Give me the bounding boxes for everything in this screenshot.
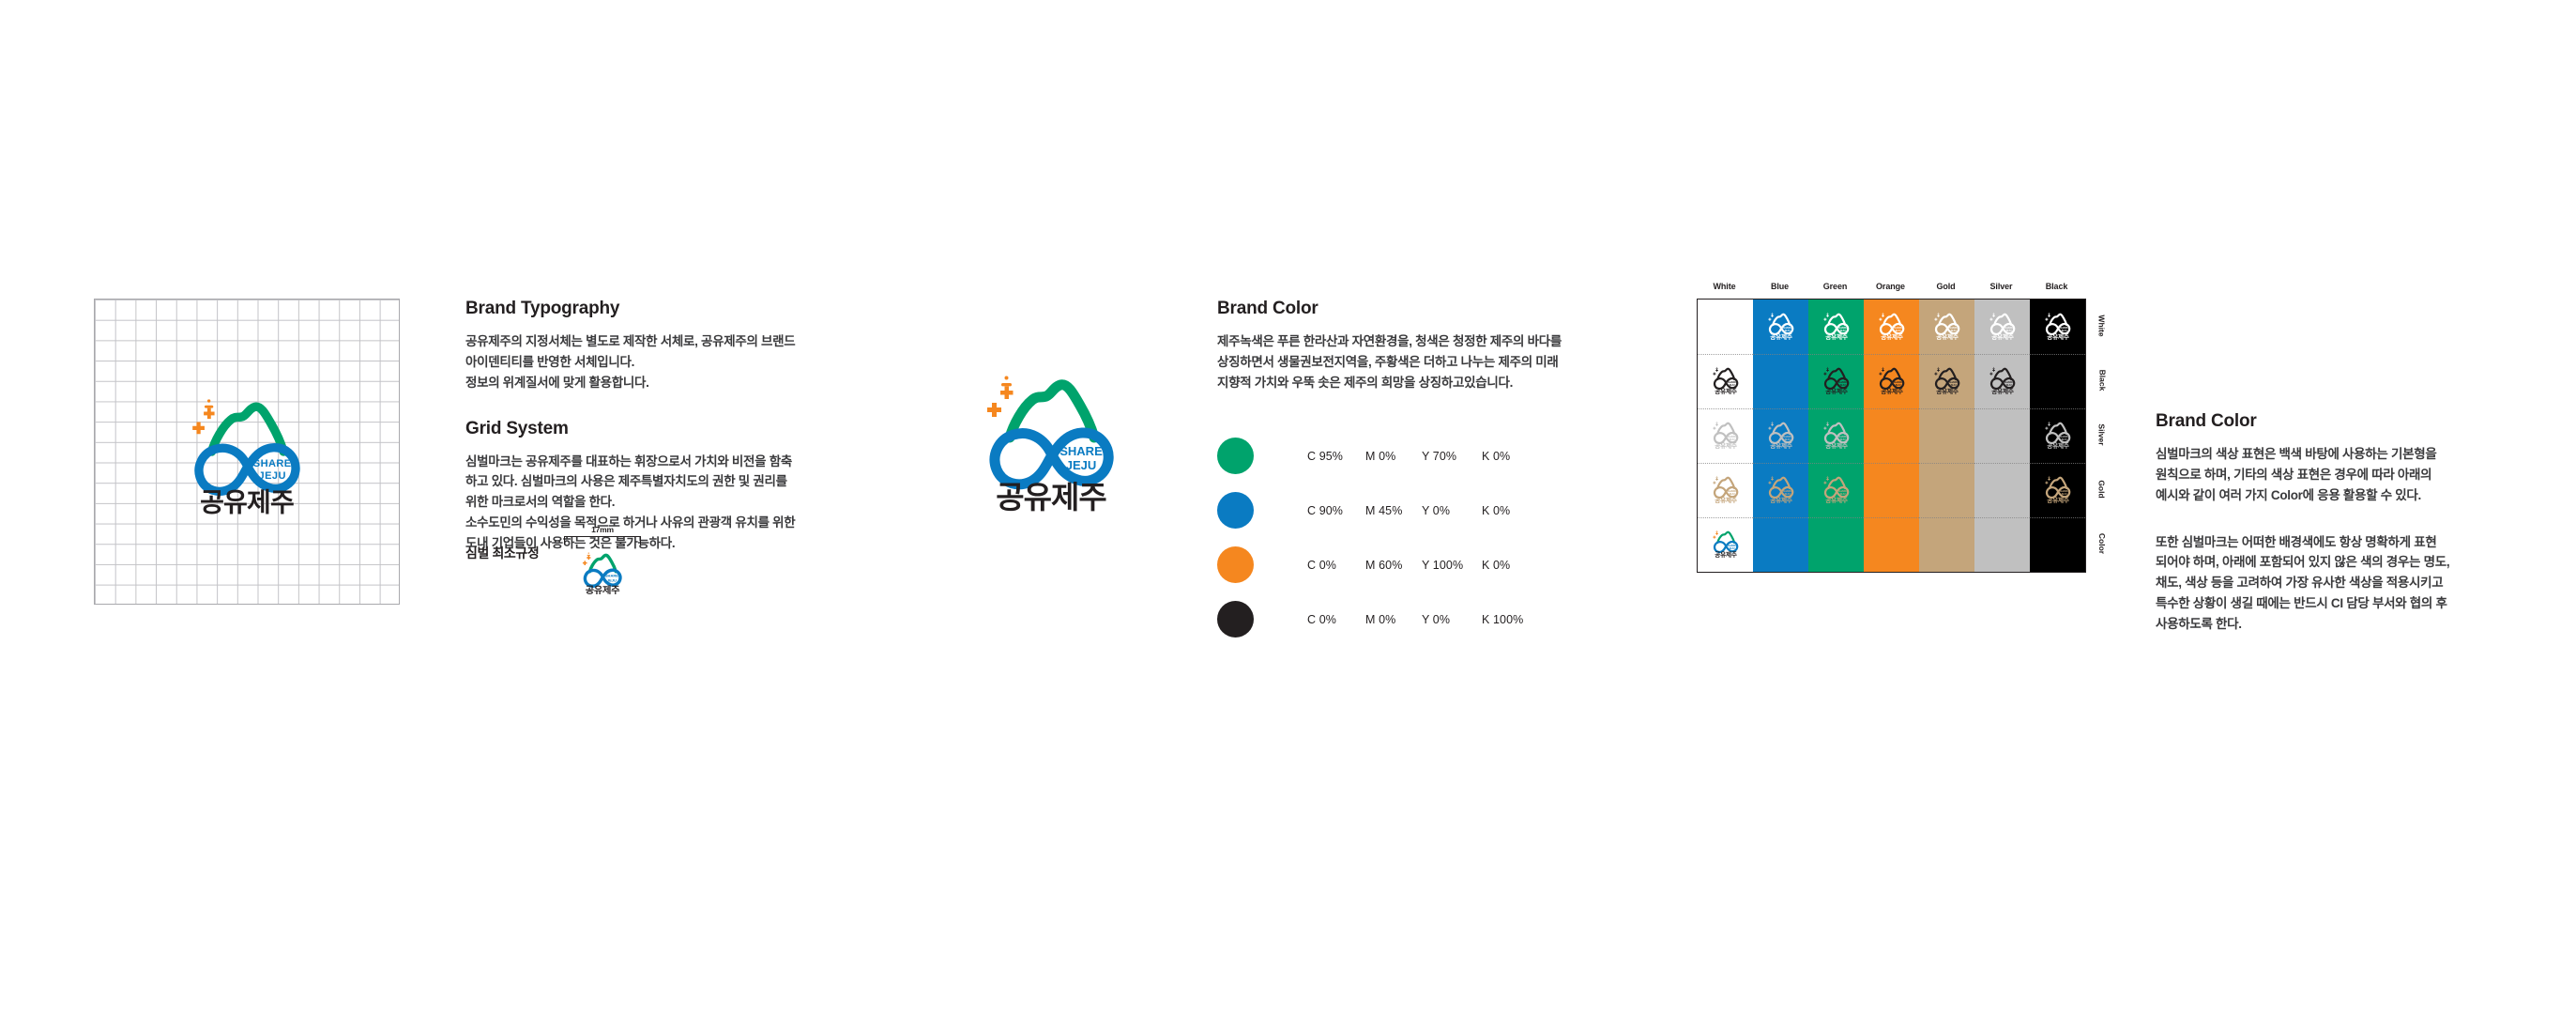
matrix-column-black: SHAREJEJU공유제주SHAREJEJU공유제주SHAREJEJU공유제주	[2030, 300, 2085, 572]
application-note-body-2: 또한 심벌마크는 어떠한 배경색에도 항상 명확하게 표현 되어야 하며, 아래…	[2156, 532, 2437, 635]
brand-typography-body: 공유제주의 지정서체는 별도로 제작한 서체로, 공유제주의 브랜드 아이덴티티…	[465, 331, 775, 393]
matrix-column-header-white: White	[1697, 282, 1752, 299]
minimum-size-mark: SHARE JEJU 공유제주	[573, 548, 632, 595]
color-swatch-list: C 95%M 0%Y 70%K 0%C 90%M 45%Y 0%K 0%C 0%…	[1217, 429, 1536, 647]
color-application-matrix: WhiteBlueGreenOrangeGoldSilverBlack SHAR…	[1697, 282, 2086, 573]
matrix-cell-orange-color	[1864, 517, 1919, 572]
share-text: SHARE	[1059, 444, 1103, 458]
matrix-cell-gold-black: SHAREJEJU공유제주	[1919, 354, 1974, 408]
cmyk-m: M 0%	[1365, 450, 1422, 463]
svg-text:공유제주: 공유제주	[1825, 496, 1848, 503]
application-note-column: Brand Color 심벌마크의 색상 표현은 백색 바탕에 사용하는 기본형…	[2156, 411, 2437, 635]
matrix-row-label-gold: Gold	[2092, 462, 2112, 516]
cmyk-y: Y 70%	[1422, 450, 1482, 463]
grid-system-heading: Grid System	[465, 419, 775, 439]
matrix-symbol-mark: SHAREJEJU공유제주	[1818, 364, 1855, 399]
matrix-cell-white-color: SHAREJEJU공유제주	[1698, 517, 1753, 572]
dimension-bracket-icon	[564, 536, 641, 545]
symbol-mark-on-grid: SHARE JEJU 공유제주	[167, 388, 327, 515]
svg-text:공유제주: 공유제주	[1770, 441, 1792, 449]
application-note-body-1: 심벌마크의 색상 표현은 백색 바탕에 사용하는 기본형을 원칙으로 하며, 기…	[2156, 444, 2437, 506]
cmyk-c: C 0%	[1307, 559, 1365, 572]
cmyk-m: M 0%	[1365, 613, 1422, 626]
matrix-column-header-black: Black	[2029, 282, 2084, 299]
minimum-size-figure: 17mm SHARE JEJU	[557, 525, 648, 595]
matrix-symbol-mark: SHAREJEJU공유제주	[1762, 473, 1800, 508]
matrix-symbol-mark: SHAREJEJU공유제주	[2039, 473, 2077, 508]
matrix-symbol-mark: SHAREJEJU공유제주	[1818, 473, 1855, 508]
matrix-cell-blue-black	[1753, 354, 1808, 408]
cmyk-y: Y 0%	[1422, 504, 1482, 517]
matrix-symbol-mark: SHAREJEJU공유제주	[1818, 419, 1855, 453]
wordmark-text: 공유제주	[996, 479, 1106, 513]
matrix-column-green: SHAREJEJU공유제주SHAREJEJU공유제주SHAREJEJU공유제주S…	[1808, 300, 1864, 572]
brand-color-column: Brand Color 제주녹색은 푸른 한라산과 자연환경을, 청색은 청정한…	[1217, 299, 1536, 647]
matrix-cell-silver-black: SHAREJEJU공유제주	[1974, 354, 2030, 408]
matrix-column-header-blue: Blue	[1752, 282, 1807, 299]
matrix-cell-white-gold: SHAREJEJU공유제주	[1698, 463, 1753, 517]
swatch-dot-jeju-black	[1217, 601, 1254, 638]
matrix-row-label-black: Black	[2092, 353, 2112, 407]
svg-text:공유제주: 공유제주	[586, 584, 620, 595]
matrix-cell-white-white	[1698, 300, 1753, 354]
svg-text:공유제주: 공유제주	[2047, 332, 2069, 340]
matrix-cell-green-white: SHAREJEJU공유제주	[1808, 300, 1864, 354]
matrix-cell-silver-gold	[1974, 463, 2030, 517]
svg-text:공유제주: 공유제주	[1715, 550, 1737, 558]
matrix-cell-black-gold: SHAREJEJU공유제주	[2030, 463, 2085, 517]
matrix-symbol-mark: SHAREJEJU공유제주	[2039, 419, 2077, 453]
typography-text-column: Brand Typography 공유제주의 지정서체는 별도로 제작한 서체로…	[465, 299, 775, 554]
matrix-symbol-mark: SHAREJEJU공유제주	[1928, 364, 1966, 399]
matrix-cell-blue-white: SHAREJEJU공유제주	[1753, 300, 1808, 354]
matrix-row-label-white: White	[2092, 299, 2112, 353]
matrix-row-label-color: Color	[2092, 516, 2112, 571]
jeju-text: JEJU	[1066, 458, 1097, 472]
cmyk-c: C 90%	[1307, 504, 1365, 517]
matrix-row-labels: WhiteBlackSilverGoldColor	[2092, 299, 2112, 573]
matrix-cell-green-silver: SHAREJEJU공유제주	[1808, 408, 1864, 463]
matrix-cell-black-black	[2030, 354, 2085, 408]
matrix-column-header-orange: Orange	[1863, 282, 1918, 299]
sparkle-icons	[987, 376, 1014, 418]
cmyk-values: C 0%M 60%Y 100%K 0%	[1307, 559, 1534, 572]
matrix-symbol-mark: SHAREJEJU공유제주	[1984, 364, 2021, 399]
svg-text:공유제주: 공유제주	[1825, 332, 1848, 340]
cmyk-y: Y 0%	[1422, 613, 1482, 626]
matrix-cell-orange-gold	[1864, 463, 1919, 517]
cmyk-y: Y 100%	[1422, 559, 1482, 572]
cmyk-k: K 0%	[1482, 504, 1534, 517]
matrix-cell-gold-white: SHAREJEJU공유제주	[1919, 300, 1974, 354]
svg-text:공유제주: 공유제주	[1770, 332, 1792, 340]
matrix-cell-black-color	[2030, 517, 2085, 572]
brand-guideline-page: SHARE JEJU 공유제주 Brand Typography 공유제주의 지…	[0, 0, 2576, 1014]
svg-text:공유제주: 공유제주	[1825, 387, 1848, 394]
matrix-cell-green-color	[1808, 517, 1864, 572]
sparkle-icons	[192, 399, 214, 434]
logo-lockup: SHARE JEJU 공유제주	[167, 388, 327, 515]
matrix-cell-green-gold: SHAREJEJU공유제주	[1808, 463, 1864, 517]
matrix-column-header-silver: Silver	[1974, 282, 2029, 299]
matrix-column-header-gold: Gold	[1918, 282, 1974, 299]
svg-text:공유제주: 공유제주	[1881, 332, 1903, 340]
matrix-symbol-mark: SHAREJEJU공유제주	[1762, 419, 1800, 453]
svg-text:공유제주: 공유제주	[1715, 496, 1737, 503]
matrix-cell-gold-color	[1919, 517, 1974, 572]
matrix-symbol-mark: SHAREJEJU공유제주	[2039, 310, 2077, 345]
cmyk-k: K 0%	[1482, 450, 1534, 463]
matrix-symbol-mark: SHAREJEJU공유제주	[1707, 419, 1745, 453]
matrix-column-gold: SHAREJEJU공유제주SHAREJEJU공유제주	[1919, 300, 1974, 572]
cmyk-m: M 45%	[1365, 504, 1422, 517]
matrix-symbol-mark: SHAREJEJU공유제주	[1928, 310, 1966, 345]
matrix-grid: SHAREJEJU공유제주SHAREJEJU공유제주SHAREJEJU공유제주S…	[1697, 299, 2086, 573]
cmyk-values: C 90%M 45%Y 0%K 0%	[1307, 504, 1534, 517]
svg-text:SHARE: SHARE	[605, 574, 618, 578]
color-swatch-row: C 95%M 0%Y 70%K 0%	[1217, 429, 1536, 484]
minimum-size-spec: 심벌 최소규정 17mm SHA	[465, 525, 785, 609]
brand-typography-heading: Brand Typography	[465, 299, 775, 319]
svg-text:공유제주: 공유제주	[1936, 332, 1959, 340]
svg-text:공유제주: 공유제주	[2047, 496, 2069, 503]
matrix-cell-gold-silver	[1919, 408, 1974, 463]
note-spacer	[2156, 506, 2437, 532]
cmyk-values: C 0%M 0%Y 0%K 100%	[1307, 613, 1534, 626]
svg-text:공유제주: 공유제주	[1881, 387, 1903, 394]
matrix-cell-gold-gold	[1919, 463, 1974, 517]
matrix-cell-white-silver: SHAREJEJU공유제주	[1698, 408, 1753, 463]
matrix-column-silver: SHAREJEJU공유제주SHAREJEJU공유제주	[1974, 300, 2030, 572]
cmyk-c: C 95%	[1307, 450, 1365, 463]
swatch-dot-jeju-blue	[1217, 492, 1254, 529]
matrix-symbol-mark: SHAREJEJU공유제주	[1707, 364, 1745, 399]
brand-color-body: 제주녹색은 푸른 한라산과 자연환경을, 청색은 청정한 제주의 바다를 상징하…	[1217, 331, 1536, 393]
color-swatch-row: C 0%M 60%Y 100%K 0%	[1217, 538, 1536, 592]
swatch-dot-jeju-orange	[1217, 546, 1254, 583]
share-text: SHARE	[253, 458, 292, 469]
matrix-symbol-mark: SHAREJEJU공유제주	[1984, 310, 2021, 345]
matrix-cell-silver-color	[1974, 517, 2030, 572]
brand-typography-section: Brand Typography 공유제주의 지정서체는 별도로 제작한 서체로…	[465, 299, 775, 393]
matrix-cell-silver-white: SHAREJEJU공유제주	[1974, 300, 2030, 354]
matrix-symbol-mark: SHAREJEJU공유제주	[1873, 310, 1911, 345]
matrix-symbol-mark: SHAREJEJU공유제주	[1707, 528, 1745, 562]
grid-system-artboard: SHARE JEJU 공유제주	[94, 299, 400, 605]
matrix-cell-orange-silver	[1864, 408, 1919, 463]
matrix-cell-blue-silver: SHAREJEJU공유제주	[1753, 408, 1808, 463]
matrix-cell-orange-black: SHAREJEJU공유제주	[1864, 354, 1919, 408]
matrix-cell-black-white: SHAREJEJU공유제주	[2030, 300, 2085, 354]
matrix-cell-green-black: SHAREJEJU공유제주	[1808, 354, 1864, 408]
svg-text:공유제주: 공유제주	[1936, 387, 1959, 394]
matrix-column-white: SHAREJEJU공유제주SHAREJEJU공유제주SHAREJEJU공유제주S…	[1698, 300, 1753, 572]
matrix-cell-white-black: SHAREJEJU공유제주	[1698, 354, 1753, 408]
wordmark-text: 공유제주	[200, 487, 294, 515]
matrix-column-header-green: Green	[1807, 282, 1863, 299]
matrix-cell-black-silver: SHAREJEJU공유제주	[2030, 408, 2085, 463]
svg-text:공유제주: 공유제주	[1825, 441, 1848, 449]
svg-text:공유제주: 공유제주	[1715, 387, 1737, 394]
minimum-size-dimension: 17mm	[557, 525, 648, 534]
matrix-cell-blue-gold: SHAREJEJU공유제주	[1753, 463, 1808, 517]
matrix-symbol-mark: SHAREJEJU공유제주	[1707, 473, 1745, 508]
jeju-text: JEJU	[259, 470, 286, 482]
matrix-cell-blue-color	[1753, 517, 1808, 572]
brand-color-heading: Brand Color	[1217, 299, 1536, 319]
matrix-symbol-mark: SHAREJEJU공유제주	[1873, 364, 1911, 399]
matrix-row-label-silver: Silver	[2092, 407, 2112, 462]
svg-text:공유제주: 공유제주	[1991, 332, 2014, 340]
svg-text:공유제주: 공유제주	[1991, 387, 2014, 394]
matrix-cell-silver-silver	[1974, 408, 2030, 463]
matrix-cell-orange-white: SHAREJEJU공유제주	[1864, 300, 1919, 354]
svg-text:공유제주: 공유제주	[2047, 441, 2069, 449]
sparkle-icons	[583, 552, 591, 564]
application-note-heading: Brand Color	[2156, 411, 2437, 432]
matrix-column-orange: SHAREJEJU공유제주SHAREJEJU공유제주	[1864, 300, 1919, 572]
swatch-dot-jeju-green	[1217, 438, 1254, 474]
minimum-size-label: 심벌 최소규정	[465, 544, 539, 562]
matrix-symbol-mark: SHAREJEJU공유제주	[1818, 310, 1855, 345]
color-swatch-row: C 0%M 0%Y 0%K 100%	[1217, 592, 1536, 647]
svg-text:공유제주: 공유제주	[1770, 496, 1792, 503]
svg-text:공유제주: 공유제주	[1715, 441, 1737, 449]
matrix-column-blue: SHAREJEJU공유제주SHAREJEJU공유제주SHAREJEJU공유제주	[1753, 300, 1808, 572]
matrix-column-headers: WhiteBlueGreenOrangeGoldSilverBlack	[1697, 282, 2086, 299]
cmyk-k: K 100%	[1482, 613, 1534, 626]
color-swatch-row: C 90%M 45%Y 0%K 0%	[1217, 484, 1536, 538]
cmyk-m: M 60%	[1365, 559, 1422, 572]
svg-text:JEJU: JEJU	[607, 577, 617, 582]
section-spacer	[465, 393, 775, 419]
cmyk-values: C 95%M 0%Y 70%K 0%	[1307, 450, 1534, 463]
cmyk-k: K 0%	[1482, 559, 1534, 572]
primary-symbol-mark: SHARE JEJU 공유제주	[957, 362, 1145, 513]
matrix-symbol-mark: SHAREJEJU공유제주	[1762, 310, 1800, 345]
cmyk-c: C 0%	[1307, 613, 1365, 626]
